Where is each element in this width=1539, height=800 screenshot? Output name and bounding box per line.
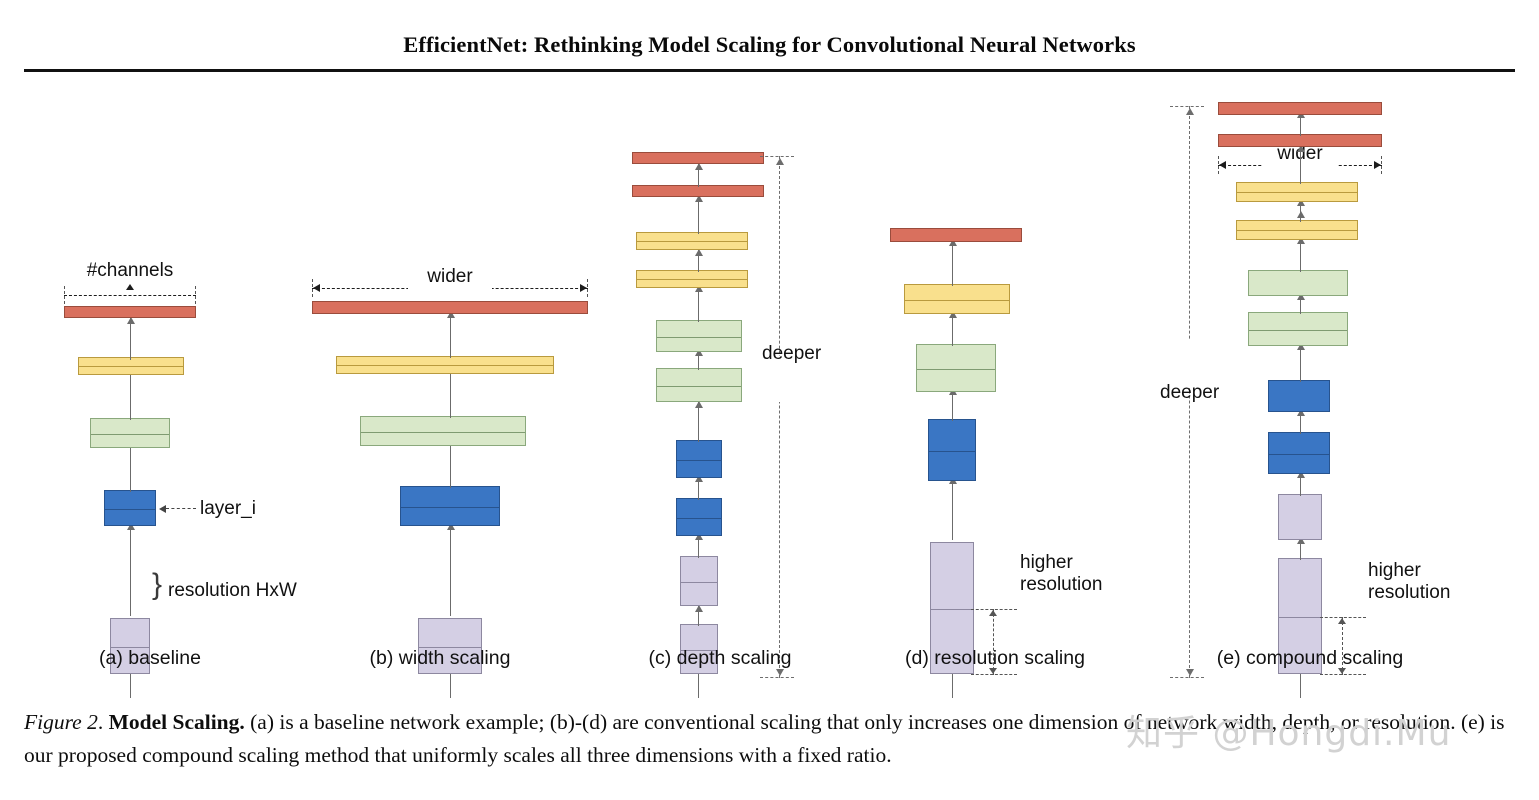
panel-c-depth-scaling: deeper (c) depth scaling	[580, 72, 880, 692]
connector-1	[698, 606, 699, 626]
connector-6	[698, 286, 699, 322]
panel-b-width-scaling: wider (b) width scaling	[300, 72, 580, 692]
layer-block-stage3	[916, 344, 996, 392]
wider-label: wider	[421, 266, 478, 288]
block-divider	[657, 386, 741, 387]
block-divider	[931, 609, 973, 610]
panel-caption-b: (b) width scaling	[300, 647, 580, 670]
dimension-tick-right	[1381, 156, 1382, 174]
connector-1	[952, 478, 953, 540]
dimension-arrow-top	[776, 158, 784, 165]
layer-block-resolution-2	[680, 556, 718, 606]
connector-9	[698, 164, 699, 187]
layer-block-stage2-2	[676, 440, 722, 478]
block-divider	[1237, 230, 1357, 231]
block-divider	[105, 509, 155, 510]
layer-block-stage4-1	[1236, 220, 1358, 240]
resolution-label: resolution HxW	[168, 580, 297, 602]
panel-d-resolution-scaling: higher resolution (d) resolution scaling	[880, 72, 1170, 692]
panel-caption-e: (e) compound scaling	[1160, 647, 1460, 670]
figure-number: Figure 2	[24, 710, 98, 734]
block-divider	[677, 460, 721, 461]
layer-block-stage2	[104, 490, 156, 526]
layer-block-resolution-2	[1278, 494, 1322, 540]
connector-3	[1300, 410, 1301, 434]
block-divider	[1237, 192, 1357, 193]
figure-title: Model Scaling.	[109, 710, 245, 734]
connector-9	[1300, 146, 1301, 184]
connector-4	[698, 402, 699, 442]
layer-block-stage3	[90, 418, 170, 448]
connector-7	[698, 250, 699, 272]
dimension-tick-bottom	[760, 677, 794, 678]
connector-4	[450, 312, 451, 358]
block-divider	[681, 582, 717, 583]
dimension-tick-right	[195, 286, 196, 304]
layer-block-channels	[890, 228, 1022, 242]
higher-resolution-label: higher resolution	[1368, 560, 1500, 605]
dimension-wider: wider	[312, 279, 588, 297]
connector-3	[952, 312, 953, 346]
connector-1	[450, 524, 451, 616]
connector-in	[952, 672, 953, 698]
deeper-label: deeper	[1160, 382, 1219, 404]
connector-2	[1300, 472, 1301, 496]
connector-10	[1300, 112, 1301, 136]
dimension-arrow-left	[313, 284, 320, 292]
dimension-arrow-right	[1374, 161, 1381, 169]
connector-3	[130, 368, 131, 420]
block-divider	[905, 300, 1009, 301]
layer-block-stage2-1	[676, 498, 722, 536]
block-divider	[361, 432, 525, 433]
layer-i-label: layer_i	[200, 498, 256, 520]
block-divider	[337, 365, 553, 366]
layer-block-stage4	[78, 357, 184, 375]
dimension-tick-bottom	[1320, 674, 1366, 675]
connector-1	[1300, 538, 1301, 560]
layer-block-stage3	[360, 416, 526, 446]
layer-block-channels-2	[632, 152, 764, 164]
connector-in	[450, 672, 451, 698]
dimension-channels: #channels	[64, 286, 196, 304]
block-divider	[677, 518, 721, 519]
layer-block-stage4	[336, 356, 554, 374]
connector-5	[1300, 294, 1301, 314]
block-divider	[1249, 330, 1347, 331]
layer-block-stage2-1	[1268, 432, 1330, 474]
layer-block-stage4	[904, 284, 1010, 314]
dimension-deeper	[770, 156, 790, 678]
layer-block-stage4-2	[636, 232, 748, 250]
block-divider	[79, 366, 183, 367]
dimension-arrow-left	[1219, 161, 1226, 169]
block-divider	[637, 279, 747, 280]
layer-block-stage4-2	[1236, 182, 1358, 202]
dimension-line	[64, 295, 196, 296]
layer-block-channels-upper	[1218, 102, 1382, 115]
block-divider	[91, 434, 169, 435]
panel-e-compound-scaling: wider higher resolution	[1170, 72, 1539, 692]
connector-in	[698, 672, 699, 698]
dimension-tick-top	[760, 156, 794, 157]
connector-4	[952, 240, 953, 286]
connector-4	[1300, 344, 1301, 382]
dimension-tick-left	[64, 286, 65, 304]
deeper-label: deeper	[762, 343, 821, 365]
dimension-arrow-bottom	[776, 669, 784, 676]
layer-block-stage3-2	[1248, 270, 1348, 296]
dimension-tick-top	[1170, 106, 1204, 107]
layer-i-leader	[166, 508, 196, 509]
figure-number-period: .	[98, 710, 109, 734]
figure-caption: Figure 2. Model Scaling. (a) is a baseli…	[24, 706, 1518, 773]
dimension-tick-bottom	[1170, 677, 1204, 678]
block-divider	[401, 507, 499, 508]
page-title: EfficientNet: Rethinking Model Scaling f…	[0, 32, 1539, 58]
panel-a-baseline: #channels } resolution HxW layer_i (a) b…	[0, 72, 300, 692]
block-divider	[917, 369, 995, 370]
block-divider	[657, 337, 741, 338]
connector-8	[698, 196, 699, 234]
dimension-arrow-bottom	[1186, 669, 1194, 676]
connector-in	[1300, 672, 1301, 698]
dimension-arrow-top	[1186, 108, 1194, 115]
dimension-line	[779, 156, 780, 678]
connector-5	[698, 350, 699, 370]
panel-caption-c: (c) depth scaling	[570, 647, 870, 670]
layer-block-stage4-1	[636, 270, 748, 288]
block-divider	[929, 451, 975, 452]
layer-block-channels	[312, 301, 588, 314]
figure-2-model-scaling: #channels } resolution HxW layer_i (a) b…	[0, 72, 1539, 692]
connector-6	[1300, 238, 1301, 272]
layer-block-stage2	[928, 419, 976, 481]
dimension-arrow-up	[126, 284, 134, 290]
layer-block-stage2	[400, 486, 500, 526]
layer-block-stage3-2	[656, 320, 742, 352]
figure-body: (a) is a baseline network example; (b)-(…	[24, 710, 1505, 767]
block-divider	[1279, 617, 1321, 618]
connector-3	[450, 368, 451, 418]
dimension-label-gap	[1180, 340, 1200, 388]
channels-label: #channels	[81, 260, 180, 282]
block-divider	[1269, 454, 1329, 455]
dimension-arrow-top	[989, 610, 997, 616]
resolution-brace: }	[152, 570, 162, 600]
connector-4	[130, 318, 131, 360]
layer-block-stage2-2	[1268, 380, 1330, 412]
connector-2	[698, 534, 699, 558]
dimension-arrow-top	[1338, 618, 1346, 624]
connector-3	[698, 476, 699, 500]
panel-caption-d: (d) resolution scaling	[850, 647, 1140, 670]
connector-2	[952, 389, 953, 421]
block-divider	[637, 241, 747, 242]
layer-block-channels	[64, 306, 196, 318]
page-header: EfficientNet: Rethinking Model Scaling f…	[0, 0, 1539, 72]
layer-block-stage3-1	[656, 368, 742, 402]
layer-block-stage3-1	[1248, 312, 1348, 346]
panel-caption-a: (a) baseline	[0, 647, 300, 670]
dimension-tick-bottom	[971, 674, 1017, 675]
higher-resolution-label: higher resolution	[1020, 552, 1152, 597]
connector-1	[130, 524, 131, 616]
connector-in	[130, 672, 131, 698]
